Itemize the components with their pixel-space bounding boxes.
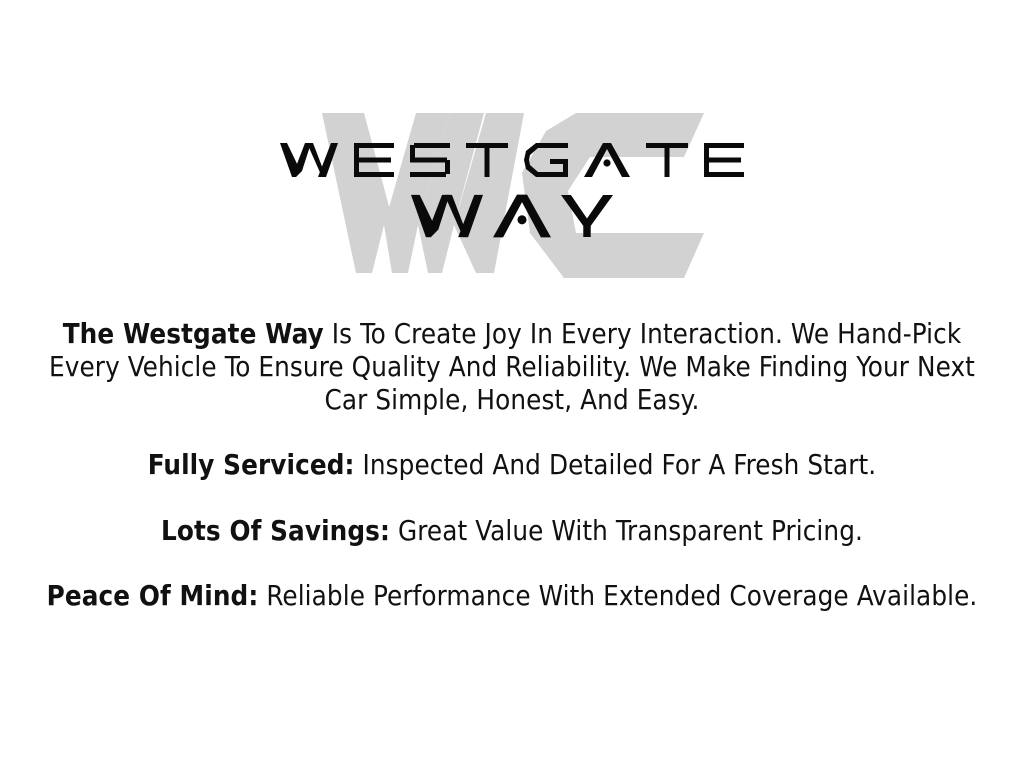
spacer <box>0 417 1024 449</box>
letter-a-dotted-icon <box>493 193 551 239</box>
letter-a-dotted-icon <box>584 143 630 177</box>
letter-w-icon <box>280 143 338 177</box>
benefit-lead-peace-of-mind: Peace Of Mind: <box>47 580 259 612</box>
benefit-paragraph-lots-of-savings: Lots Of Savings: Great Value With Transp… <box>0 515 1024 548</box>
letter-s-icon <box>410 143 450 177</box>
brand-logo: WESTGATE <box>0 95 1024 290</box>
intro-paragraph: The Westgate Way Is To Create Joy In Eve… <box>0 318 1024 417</box>
slide-canvas: WESTGATE <box>0 0 1024 768</box>
wordmark-glyphs-way <box>411 193 613 239</box>
letter-e-icon <box>354 143 394 177</box>
letter-t-icon <box>646 143 688 177</box>
wordmark-glyphs-westgate <box>280 143 744 177</box>
letter-y-icon <box>561 193 613 239</box>
letter-t-icon <box>466 143 508 177</box>
wordmark-line-westgate: WESTGATE <box>0 143 1024 182</box>
wordmark: WESTGATE <box>0 95 1024 290</box>
benefit-rest-peace-of-mind: Reliable Performance With Extended Cover… <box>258 580 977 612</box>
letter-g-icon <box>524 143 568 177</box>
benefit-paragraph-peace-of-mind: Peace Of Mind: Reliable Performance With… <box>0 580 1024 613</box>
benefit-lead-lots-of-savings: Lots Of Savings: <box>161 515 390 547</box>
spacer <box>0 548 1024 580</box>
letter-e-icon <box>704 143 744 177</box>
benefit-rest-fully-serviced: Inspected And Detailed For A Fresh Start… <box>355 449 877 481</box>
benefit-lead-fully-serviced: Fully Serviced: <box>148 449 355 481</box>
spacer <box>0 482 1024 515</box>
intro-lead: The Westgate Way <box>63 318 324 350</box>
benefit-paragraph-fully-serviced: Fully Serviced: Inspected And Detailed F… <box>0 449 1024 482</box>
benefit-rest-lots-of-savings: Great Value With Transparent Pricing. <box>390 515 863 547</box>
wordmark-line-way: WAY <box>0 193 1024 244</box>
body-copy: The Westgate Way Is To Create Joy In Eve… <box>0 318 1024 613</box>
letter-w-icon <box>411 193 483 239</box>
